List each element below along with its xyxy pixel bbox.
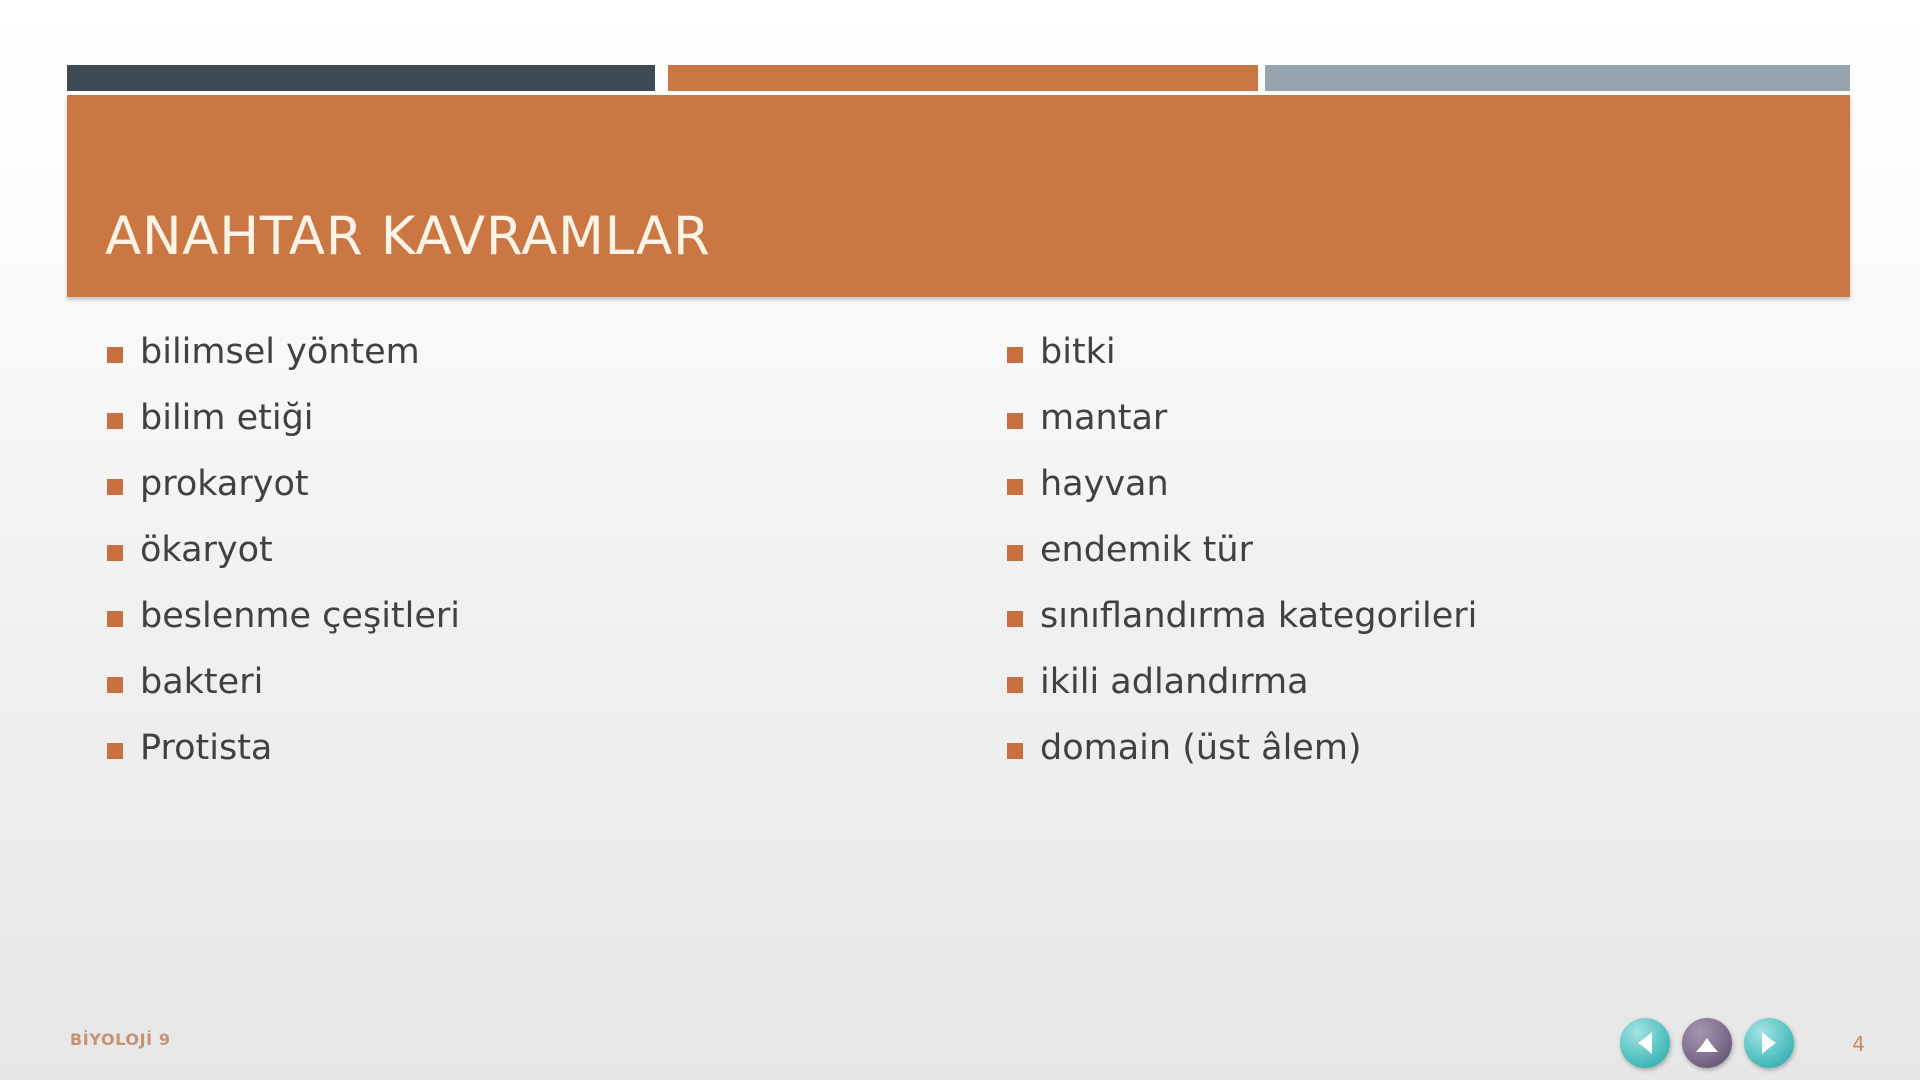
list-item: sınıflandırma kategorileri: [1000, 594, 1880, 638]
list-item: mantar: [1000, 396, 1880, 440]
list-item-label: mantar: [1040, 398, 1167, 438]
list-item-label: bilimsel yöntem: [140, 332, 420, 372]
square-bullet-icon: [1007, 743, 1023, 759]
square-bullet-icon: [1007, 479, 1023, 495]
square-bullet-icon: [107, 611, 123, 627]
list-item-label: Protista: [140, 728, 272, 768]
square-bullet-icon: [107, 677, 123, 693]
list-item: hayvan: [1000, 462, 1880, 506]
next-slide-button[interactable]: [1744, 1018, 1794, 1068]
square-bullet-icon: [1007, 347, 1023, 363]
list-item-label: ökaryot: [140, 530, 273, 570]
list-item-label: sınıflandırma kategorileri: [1040, 596, 1477, 636]
list-item-label: domain (üst âlem): [1040, 728, 1362, 768]
list-item: bilim etiği: [100, 396, 920, 440]
square-bullet-icon: [1007, 611, 1023, 627]
bullet-list-right: bitki mantar hayvan endemik tür sınıflan…: [1000, 330, 1880, 770]
list-item: domain (üst âlem): [1000, 726, 1880, 770]
list-item-label: hayvan: [1040, 464, 1169, 504]
list-item-label: beslenme çeşitleri: [140, 596, 460, 636]
list-item: bitki: [1000, 330, 1880, 374]
list-item-label: ikili adlandırma: [1040, 662, 1309, 702]
accent-bar-orange: [668, 65, 1258, 91]
list-item: Protista: [100, 726, 920, 770]
page-number: 4: [1852, 1032, 1865, 1056]
up-slide-button[interactable]: [1682, 1018, 1732, 1068]
triangle-up-icon: [1682, 1018, 1732, 1068]
list-item-label: endemik tür: [1040, 530, 1253, 570]
accent-bar-gray: [1265, 65, 1850, 91]
previous-slide-button[interactable]: [1620, 1018, 1670, 1068]
list-item-label: bitki: [1040, 332, 1116, 372]
accent-bar-dark: [67, 65, 655, 91]
title-banner: ANAHTAR KAVRAMLAR: [67, 95, 1850, 297]
slide-body: bilimsel yöntem bilim etiği prokaryot ök…: [0, 330, 1920, 800]
presentation-slide: ANAHTAR KAVRAMLAR bilimsel yöntem bilim …: [0, 0, 1920, 1080]
list-item-label: prokaryot: [140, 464, 309, 504]
bullet-column-left: bilimsel yöntem bilim etiği prokaryot ök…: [100, 330, 920, 792]
course-label: BİYOLOJİ 9: [70, 1030, 171, 1049]
list-item: bakteri: [100, 660, 920, 704]
triangle-left-icon: [1620, 1018, 1670, 1068]
triangle-right-icon: [1744, 1018, 1794, 1068]
list-item: endemik tür: [1000, 528, 1880, 572]
square-bullet-icon: [107, 479, 123, 495]
bullet-list-left: bilimsel yöntem bilim etiği prokaryot ök…: [100, 330, 920, 770]
list-item: bilimsel yöntem: [100, 330, 920, 374]
list-item: prokaryot: [100, 462, 920, 506]
list-item: ikili adlandırma: [1000, 660, 1880, 704]
square-bullet-icon: [107, 413, 123, 429]
square-bullet-icon: [107, 743, 123, 759]
list-item-label: bakteri: [140, 662, 263, 702]
list-item-label: bilim etiği: [140, 398, 314, 438]
square-bullet-icon: [107, 545, 123, 561]
square-bullet-icon: [107, 347, 123, 363]
square-bullet-icon: [1007, 545, 1023, 561]
slide-navigation: [1620, 1018, 1800, 1070]
bullet-column-right: bitki mantar hayvan endemik tür sınıflan…: [1000, 330, 1880, 792]
list-item: ökaryot: [100, 528, 920, 572]
list-item: beslenme çeşitleri: [100, 594, 920, 638]
square-bullet-icon: [1007, 677, 1023, 693]
top-accent-bars: [0, 65, 1920, 91]
page-title: ANAHTAR KAVRAMLAR: [105, 210, 711, 263]
square-bullet-icon: [1007, 413, 1023, 429]
